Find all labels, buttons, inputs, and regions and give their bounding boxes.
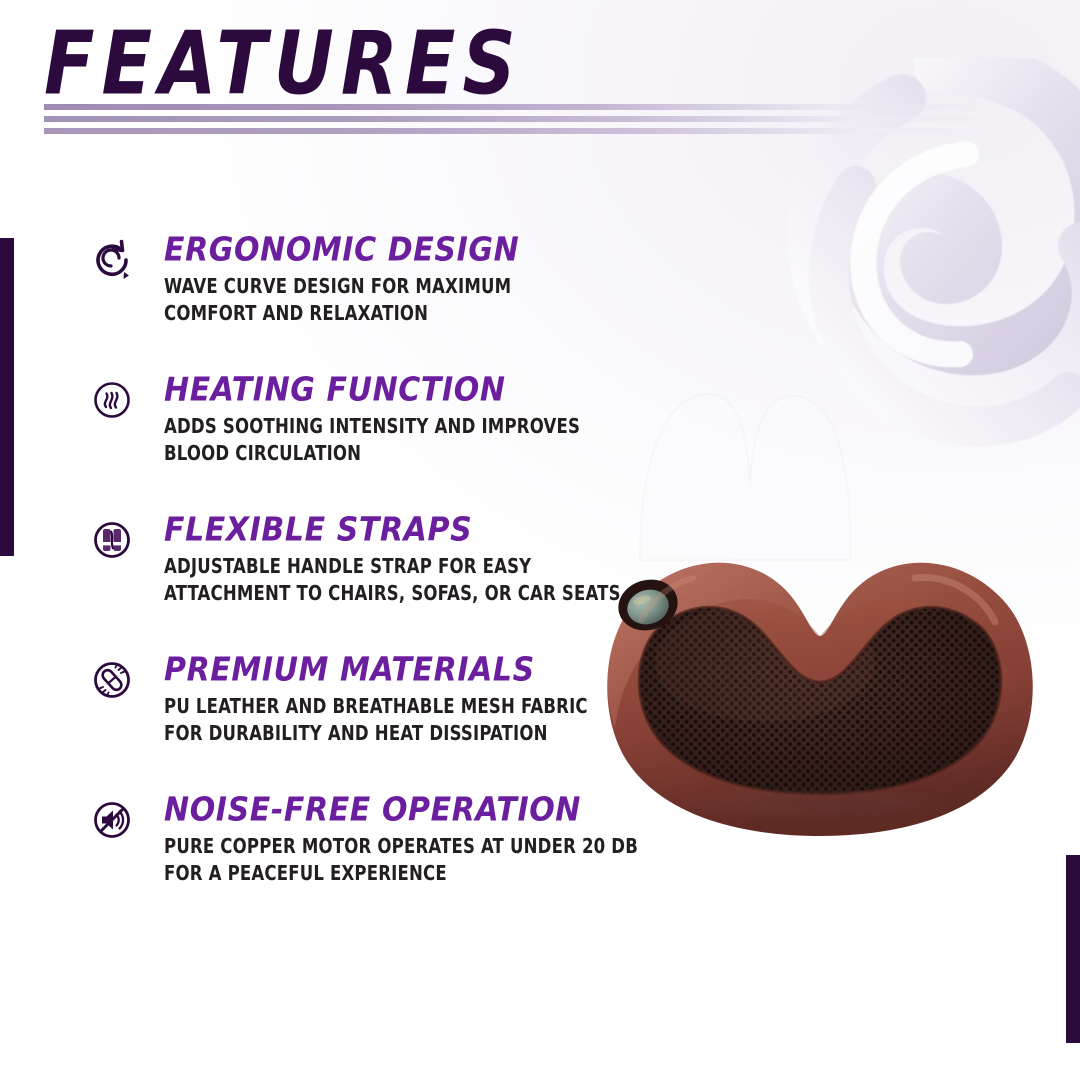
feature-item-noise-free-operation: NOISE-FREE OPERATION PURE COPPER MOTOR O… — [88, 792, 628, 896]
title-rule-2 — [44, 116, 1044, 122]
product-image-massage-pillow — [585, 512, 1055, 842]
feature-heading: NOISE-FREE OPERATION — [164, 792, 628, 829]
page-title: FEATURES — [44, 18, 664, 110]
feature-description: PU LEATHER AND BREATHABLE MESH FABRIC FO… — [164, 693, 591, 747]
mute-speaker-icon — [88, 796, 136, 844]
feature-description-line: ADDS SOOTHING INTENSITY AND IMPROVES — [164, 413, 591, 440]
feature-description-line: FOR A PEACEFUL EXPERIENCE — [164, 860, 591, 887]
features-list: ERGONOMIC DESIGN WAVE CURVE DESIGN FOR M… — [88, 232, 628, 932]
title-rule-1 — [44, 104, 1044, 110]
feature-description-line: WAVE CURVE DESIGN FOR MAXIMUM — [164, 273, 591, 300]
straps-icon — [88, 516, 136, 564]
feature-item-flexible-straps: FLEXIBLE STRAPS ADJUSTABLE HANDLE STRAP … — [88, 512, 628, 616]
right-accent-bar — [1066, 855, 1080, 1043]
feature-description-line: FOR DURABILITY AND HEAT DISSIPATION — [164, 720, 591, 747]
unbreakable-link-icon — [88, 656, 136, 704]
feature-heading: FLEXIBLE STRAPS — [164, 512, 628, 549]
feature-heading: ERGONOMIC DESIGN — [164, 232, 628, 269]
feature-description-line: PURE COPPER MOTOR OPERATES AT UNDER 20 D… — [164, 833, 591, 860]
feature-heading: PREMIUM MATERIALS — [164, 652, 628, 689]
feature-description-line: BLOOD CIRCULATION — [164, 440, 591, 467]
feature-description-line: COMFORT AND RELAXATION — [164, 300, 591, 327]
feature-description: ADDS SOOTHING INTENSITY AND IMPROVES BLO… — [164, 413, 591, 467]
product-shadow — [625, 780, 1005, 826]
feature-description-line: ADJUSTABLE HANDLE STRAP FOR EASY — [164, 553, 591, 580]
feature-item-heating-function: HEATING FUNCTION ADDS SOOTHING INTENSITY… — [88, 372, 628, 476]
title-rule-3 — [44, 128, 1044, 134]
heat-waves-icon — [88, 376, 136, 424]
feature-item-premium-materials: PREMIUM MATERIALS PU LEATHER AND BREATHA… — [88, 652, 628, 756]
feature-description: WAVE CURVE DESIGN FOR MAXIMUM COMFORT AN… — [164, 273, 591, 327]
feature-description-line: ATTACHMENT TO CHAIRS, SOFAS, OR CAR SEAT… — [164, 580, 591, 607]
feature-heading: HEATING FUNCTION — [164, 372, 628, 409]
feature-description: PURE COPPER MOTOR OPERATES AT UNDER 20 D… — [164, 833, 591, 887]
page-title-block: FEATURES — [44, 18, 664, 96]
feature-description: ADJUSTABLE HANDLE STRAP FOR EASY ATTACHM… — [164, 553, 591, 607]
feature-poster: FEATURES ERGONOMIC DESIGN WAVE CURVE DES… — [0, 0, 1080, 1080]
title-underline-rules — [44, 104, 1044, 140]
feature-description-line: PU LEATHER AND BREATHABLE MESH FABRIC — [164, 693, 591, 720]
rotate-arrow-icon — [88, 236, 136, 284]
feature-item-ergonomic-design: ERGONOMIC DESIGN WAVE CURVE DESIGN FOR M… — [88, 232, 628, 336]
left-accent-bar — [0, 238, 14, 556]
